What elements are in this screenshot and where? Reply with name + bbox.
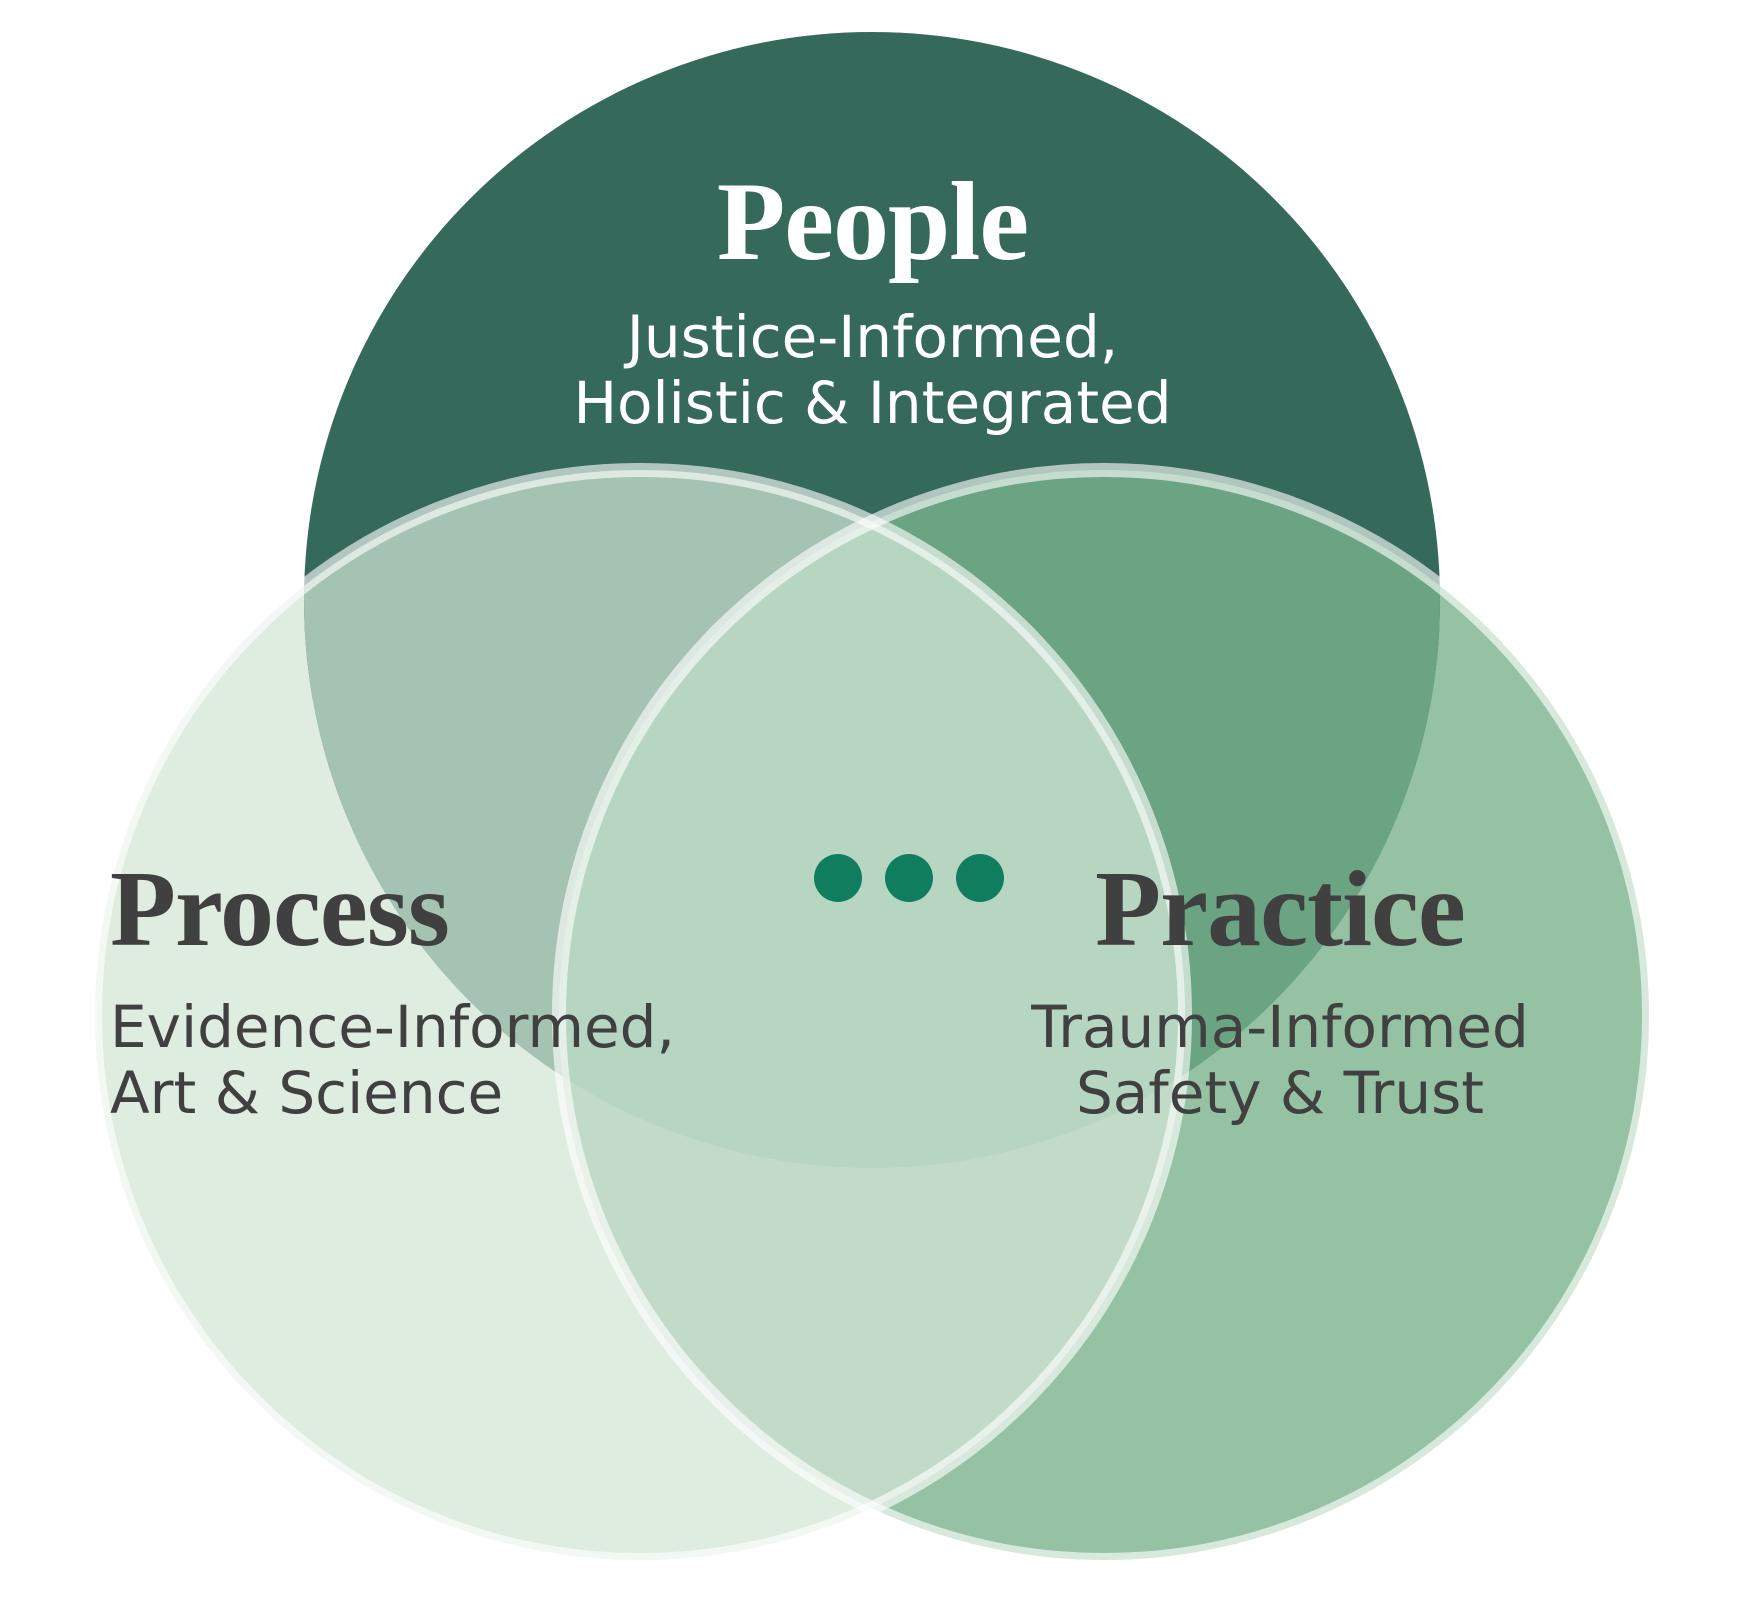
venn-diagram-canvas: People Justice-Informed, Holistic & Inte… xyxy=(0,0,1742,1616)
dot-3 xyxy=(956,854,1004,902)
venn-diagram-graphic xyxy=(0,0,1742,1616)
dot-2 xyxy=(885,854,933,902)
three-dots-icon xyxy=(814,854,1004,902)
dot-1 xyxy=(814,854,862,902)
